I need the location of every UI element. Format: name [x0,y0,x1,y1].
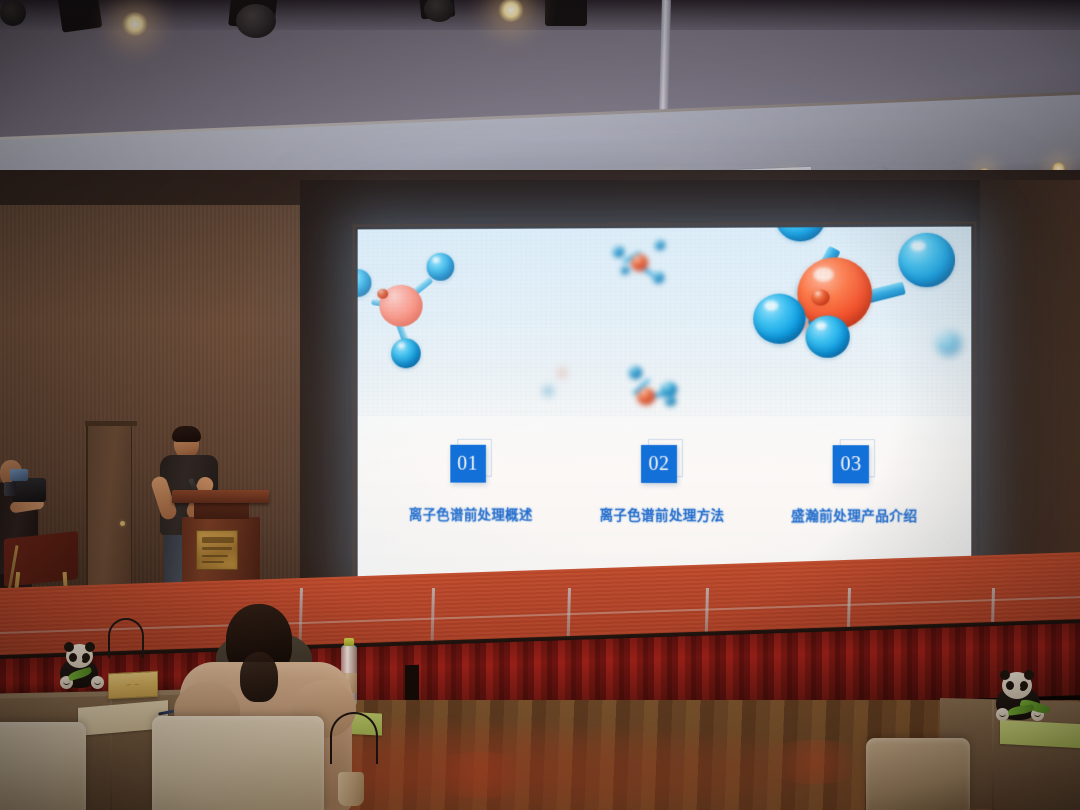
molecule-atom [937,331,961,355]
agenda-label-01: 离子色谱前处理概述 [370,504,572,524]
molecule-background-small [607,352,687,414]
panda-ear [1000,670,1010,680]
molecule-atom [775,227,825,242]
molecule-atom [391,338,421,368]
slide-hero-image [358,227,972,416]
panda-ear [1024,670,1034,680]
molecule-atom-small [377,289,388,299]
agenda-badge-03: 03 [833,443,875,483]
molecule-atom [753,294,805,344]
panda-eye [69,653,77,662]
panda-plush-left [60,644,104,694]
badge-number-01: 01 [450,445,486,483]
molecule-atom [661,382,677,397]
panda-head [1002,672,1032,699]
molecule-background-small [607,242,677,302]
panda-head [66,644,93,668]
molecule-right-large [747,227,971,416]
carpet-pattern [760,740,870,784]
door-knob-icon[interactable] [120,521,125,526]
panda-ear [64,642,74,652]
molecule-background-small [927,323,972,373]
molecule-atom [427,253,455,281]
video-camera [12,478,46,502]
presentation-screen: 01 离子色谱前处理概述 02 离子色谱前处理方法 03 盛瀚前处理产品介绍 [358,227,972,588]
agenda-item-03[interactable]: 03 盛瀚前处理产品介绍 [751,443,958,525]
panda-nose [82,659,88,663]
panda-nose [1020,687,1026,691]
panda-paw [996,708,1009,721]
panda-eye [1006,681,1014,690]
paper-cup[interactable] [338,772,364,806]
plaque-text-line [202,561,224,563]
panda-paw [91,676,104,689]
molecule-atom [621,266,629,274]
plaque-text-line [202,537,234,543]
agenda-label-03: 盛瀚前处理产品介绍 [751,505,958,526]
molecule-atom-center [631,254,648,271]
carpet-pattern [420,752,540,798]
molecule-atom-small [811,289,829,305]
tablecloth-fold [992,699,994,809]
stage-light-fixture [545,0,587,26]
podium-neck [194,503,249,519]
audience-hair-strand [240,652,278,702]
molecule-atom-small [557,368,566,377]
badge-number-02: 02 [641,445,677,483]
camera-screen-icon [10,469,28,481]
panda-ear [85,642,95,652]
agenda-item-01[interactable]: 01 离子色谱前处理概述 [370,443,572,524]
agenda-badge-01: 01 [450,443,492,483]
stage-skirt-gap [405,665,419,701]
agenda-label-02: 离子色谱前处理方法 [560,504,765,525]
presenter-hair [172,426,201,442]
podium-lectern-top [172,490,269,503]
molecule-left [358,241,478,380]
plaque-text-line [202,555,228,557]
audience-chair-right[interactable] [866,738,970,810]
agenda-item-02[interactable]: 02 离子色谱前处理方法 [560,443,765,524]
stage-light-fixture [58,0,103,33]
door-frame [85,421,137,426]
microphone-stand [108,618,144,658]
molecule-atom [629,366,642,379]
nameplate-left: — — [108,671,158,700]
molecule-atom [805,316,849,358]
stage-light-fixture [0,0,26,26]
audience-chair-front[interactable] [152,716,324,810]
plaque-text-line [202,547,232,550]
molecule-atom [653,272,664,283]
agenda-badge-02: 02 [641,443,683,483]
stage-light-beam [122,12,148,36]
microphone-stand [330,712,378,764]
nameplate-text: — — [126,682,140,689]
stage-light-fixture [236,4,276,38]
conference-hall-photo: 01 离子色谱前处理概述 02 离子色谱前处理方法 03 盛瀚前处理产品介绍 [0,0,1080,810]
molecule-atom [613,246,624,257]
molecule-atom [898,233,955,288]
ceiling-shadow-band [0,0,1080,30]
molecule-atom-center [637,388,655,405]
badge-number-03: 03 [833,445,869,483]
podium-plaque [196,530,238,570]
molecule-background-small [543,364,583,404]
molecule-atom [358,269,372,297]
panda-plush-right [996,672,1044,726]
molecule-atom [655,240,665,250]
molecule-atom [665,396,676,406]
audience-chair-left[interactable] [0,722,86,810]
molecule-atom [543,386,552,395]
